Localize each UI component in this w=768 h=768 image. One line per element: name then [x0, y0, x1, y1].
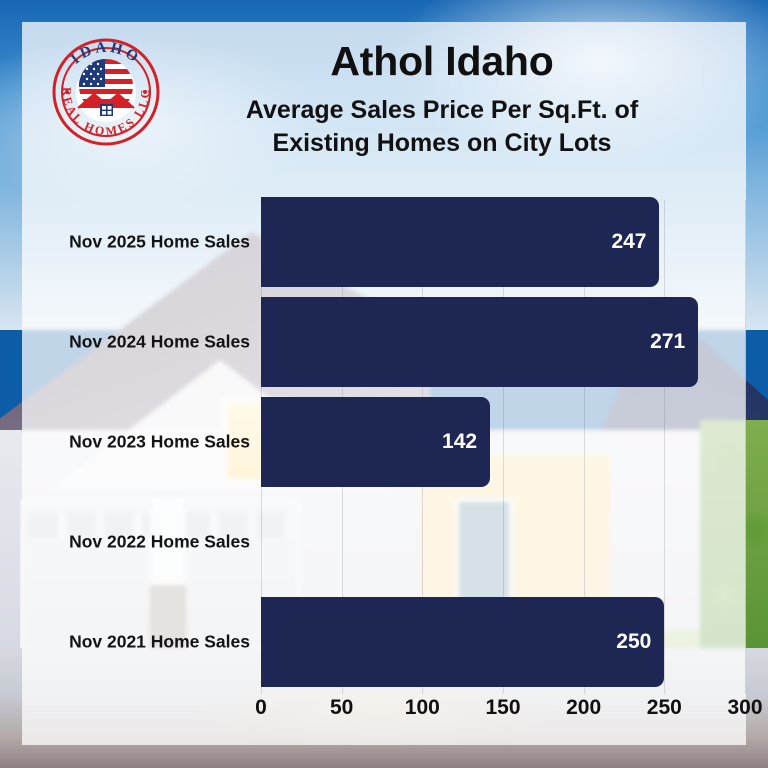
- bar-value-label: 247: [611, 230, 646, 254]
- chart-overlay-card: IDAHO REAL HOMES LLC Athol Idaho Average…: [22, 22, 746, 745]
- bar[interactable]: 247: [261, 197, 659, 287]
- x-axis-tick-150: 150: [485, 696, 520, 720]
- chart-row[interactable]: Nov 2025 Home Sales247: [22, 192, 746, 292]
- category-label: Nov 2023 Home Sales: [22, 432, 250, 453]
- x-axis-tick-300: 300: [727, 696, 762, 720]
- chart-row[interactable]: Nov 2023 Home Sales142: [22, 392, 746, 492]
- chart-row[interactable]: Nov 2024 Home Sales271: [22, 292, 746, 392]
- bar-chart: Nov 2025 Home Sales247Nov 2024 Home Sale…: [22, 190, 746, 745]
- page-subtitle-line-1: Average Sales Price Per Sq.Ft. of: [142, 94, 742, 127]
- page-subtitle: Average Sales Price Per Sq.Ft. of Existi…: [142, 94, 742, 160]
- poster: IDAHO REAL HOMES LLC Athol Idaho Average…: [0, 0, 768, 768]
- bar[interactable]: 271: [261, 297, 698, 387]
- bar[interactable]: 142: [261, 397, 490, 487]
- category-label: Nov 2021 Home Sales: [22, 632, 250, 653]
- x-axis-tick-100: 100: [405, 696, 440, 720]
- x-axis-tick-200: 200: [566, 696, 601, 720]
- category-label: Nov 2022 Home Sales: [22, 532, 250, 553]
- category-label: Nov 2025 Home Sales: [22, 232, 250, 253]
- bar-value-label: 271: [650, 330, 685, 354]
- bar-value-label: 250: [616, 630, 651, 654]
- x-axis-tick-0: 0: [255, 696, 267, 720]
- chart-row[interactable]: Nov 2022 Home Sales: [22, 492, 746, 592]
- page-title: Athol Idaho: [162, 38, 722, 85]
- chart-row[interactable]: Nov 2021 Home Sales250: [22, 592, 746, 692]
- x-axis: 050100150200250300: [22, 696, 746, 736]
- page-subtitle-line-2: Existing Homes on City Lots: [142, 127, 742, 160]
- poster-header: IDAHO REAL HOMES LLC Athol Idaho Average…: [22, 22, 746, 197]
- bar[interactable]: 250: [261, 597, 664, 687]
- x-axis-tick-50: 50: [330, 696, 353, 720]
- bar-value-label: 142: [442, 430, 477, 454]
- x-axis-tick-250: 250: [647, 696, 682, 720]
- chart-bar-rows: Nov 2025 Home Sales247Nov 2024 Home Sale…: [22, 190, 746, 694]
- category-label: Nov 2024 Home Sales: [22, 332, 250, 353]
